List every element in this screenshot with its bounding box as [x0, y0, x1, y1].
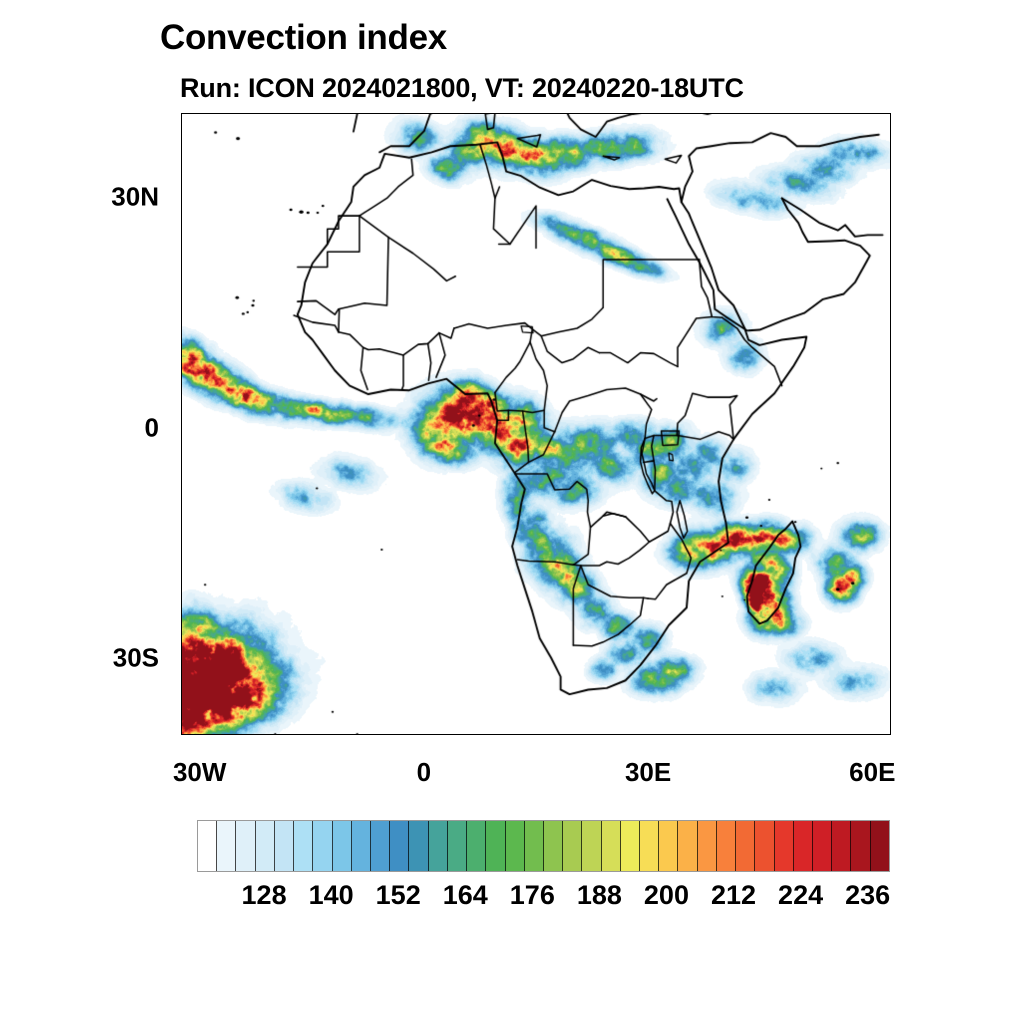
colorbar-swatch-11: [409, 821, 428, 871]
y-axis-label: 30N: [0, 182, 159, 213]
colorbar-tick-label: 224: [778, 880, 823, 911]
colorbar-swatch-31: [794, 821, 813, 871]
colorbar-swatch-34: [851, 821, 870, 871]
x-axis-label: 30E: [625, 757, 671, 788]
colorbar-swatch-4: [275, 821, 294, 871]
colorbar-swatch-23: [640, 821, 659, 871]
colorbar-swatch-5: [294, 821, 313, 871]
colorbar-swatch-29: [755, 821, 774, 871]
colorbar-swatch-33: [832, 821, 851, 871]
colorbar-swatch-14: [467, 821, 486, 871]
colorbar-swatch-10: [390, 821, 409, 871]
colorbar[interactable]: [197, 820, 890, 872]
colorbar-tick-label: 188: [577, 880, 622, 911]
colorbar-swatch-18: [544, 821, 563, 871]
colorbar-swatch-7: [333, 821, 352, 871]
y-tick-major: [181, 428, 182, 430]
x-tick-minor: [723, 113, 724, 114]
colorbar-swatch-24: [659, 821, 678, 871]
x-tick-minor: [349, 113, 350, 114]
x-tick-minor: [275, 113, 276, 114]
colorbar-swatch-27: [717, 821, 736, 871]
colorbar-swatch-32: [813, 821, 832, 871]
colorbar-tick-label: 200: [644, 880, 689, 911]
x-axis-label: 0: [417, 757, 431, 788]
colorbar-swatches: [197, 820, 890, 872]
x-tick-minor: [499, 113, 500, 114]
map-plot-area[interactable]: [181, 113, 891, 735]
page-title: Convection index: [160, 18, 447, 58]
colorbar-swatch-20: [582, 821, 601, 871]
colorbar-tick-label: 152: [376, 880, 421, 911]
colorbar-swatch-8: [352, 821, 371, 871]
colorbar-swatch-26: [698, 821, 717, 871]
colorbar-swatch-3: [256, 821, 275, 871]
x-tick-major: [200, 113, 202, 114]
colorbar-swatch-6: [313, 821, 332, 871]
colorbar-swatch-17: [525, 821, 544, 871]
colorbar-swatch-16: [506, 821, 525, 871]
y-axis-label: 30S: [0, 643, 159, 674]
colorbar-swatch-19: [563, 821, 582, 871]
run-subtitle: Run: ICON 2024021800, VT: 20240220-18UTC: [180, 73, 744, 104]
colorbar-swatch-35: [871, 821, 889, 871]
colorbar-tick-label: 140: [309, 880, 354, 911]
colorbar-swatch-1: [217, 821, 236, 871]
colorbar-swatch-0: [198, 821, 217, 871]
x-tick-minor: [574, 113, 575, 114]
colorbar-swatch-22: [621, 821, 640, 871]
x-tick-minor: [798, 113, 799, 114]
x-axis-label: 30W: [173, 757, 226, 788]
colorbar-tick-label: 212: [711, 880, 756, 911]
colorbar-swatch-2: [236, 821, 255, 871]
x-axis-label: 60E: [849, 757, 895, 788]
y-axis-label: 0: [0, 412, 159, 443]
colorbar-swatch-21: [602, 821, 621, 871]
y-tick-minor: [181, 275, 182, 276]
colorbar-swatch-13: [448, 821, 467, 871]
colorbar-swatch-30: [775, 821, 794, 871]
colorbar-swatch-15: [486, 821, 505, 871]
colorbar-swatch-25: [678, 821, 697, 871]
y-tick-major: [181, 198, 182, 200]
x-tick-major: [873, 113, 875, 114]
convection-index-heatmap: [182, 114, 890, 734]
y-tick-minor: [181, 505, 182, 506]
y-tick-major: [181, 658, 182, 660]
y-tick-minor: [181, 351, 182, 352]
colorbar-swatch-28: [736, 821, 755, 871]
x-tick-major: [424, 113, 426, 114]
x-tick-major: [648, 113, 650, 114]
colorbar-tick-label: 236: [845, 880, 890, 911]
colorbar-tick-label: 164: [443, 880, 488, 911]
colorbar-tick-label: 176: [510, 880, 555, 911]
colorbar-swatch-12: [429, 821, 448, 871]
colorbar-tick-label: 128: [242, 880, 287, 911]
y-tick-minor: [181, 582, 182, 583]
colorbar-swatch-9: [371, 821, 390, 871]
